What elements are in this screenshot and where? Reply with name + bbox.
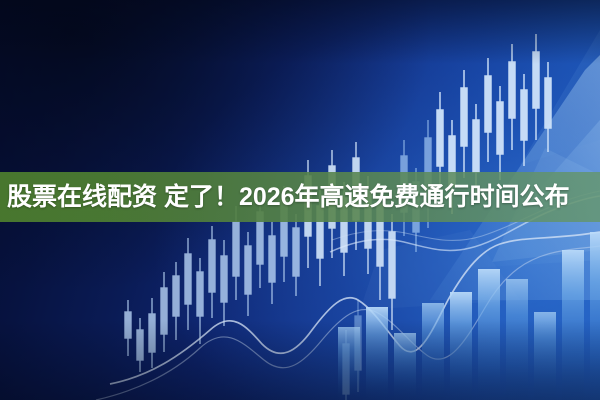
headline-text: 股票在线配资 定了！2026年高速免费通行时间公布: [0, 185, 570, 210]
stock-news-banner-image: 股票在线配资 定了！2026年高速免费通行时间公布: [0, 0, 600, 400]
headline-banner: 股票在线配资 定了！2026年高速免费通行时间公布: [0, 172, 600, 222]
